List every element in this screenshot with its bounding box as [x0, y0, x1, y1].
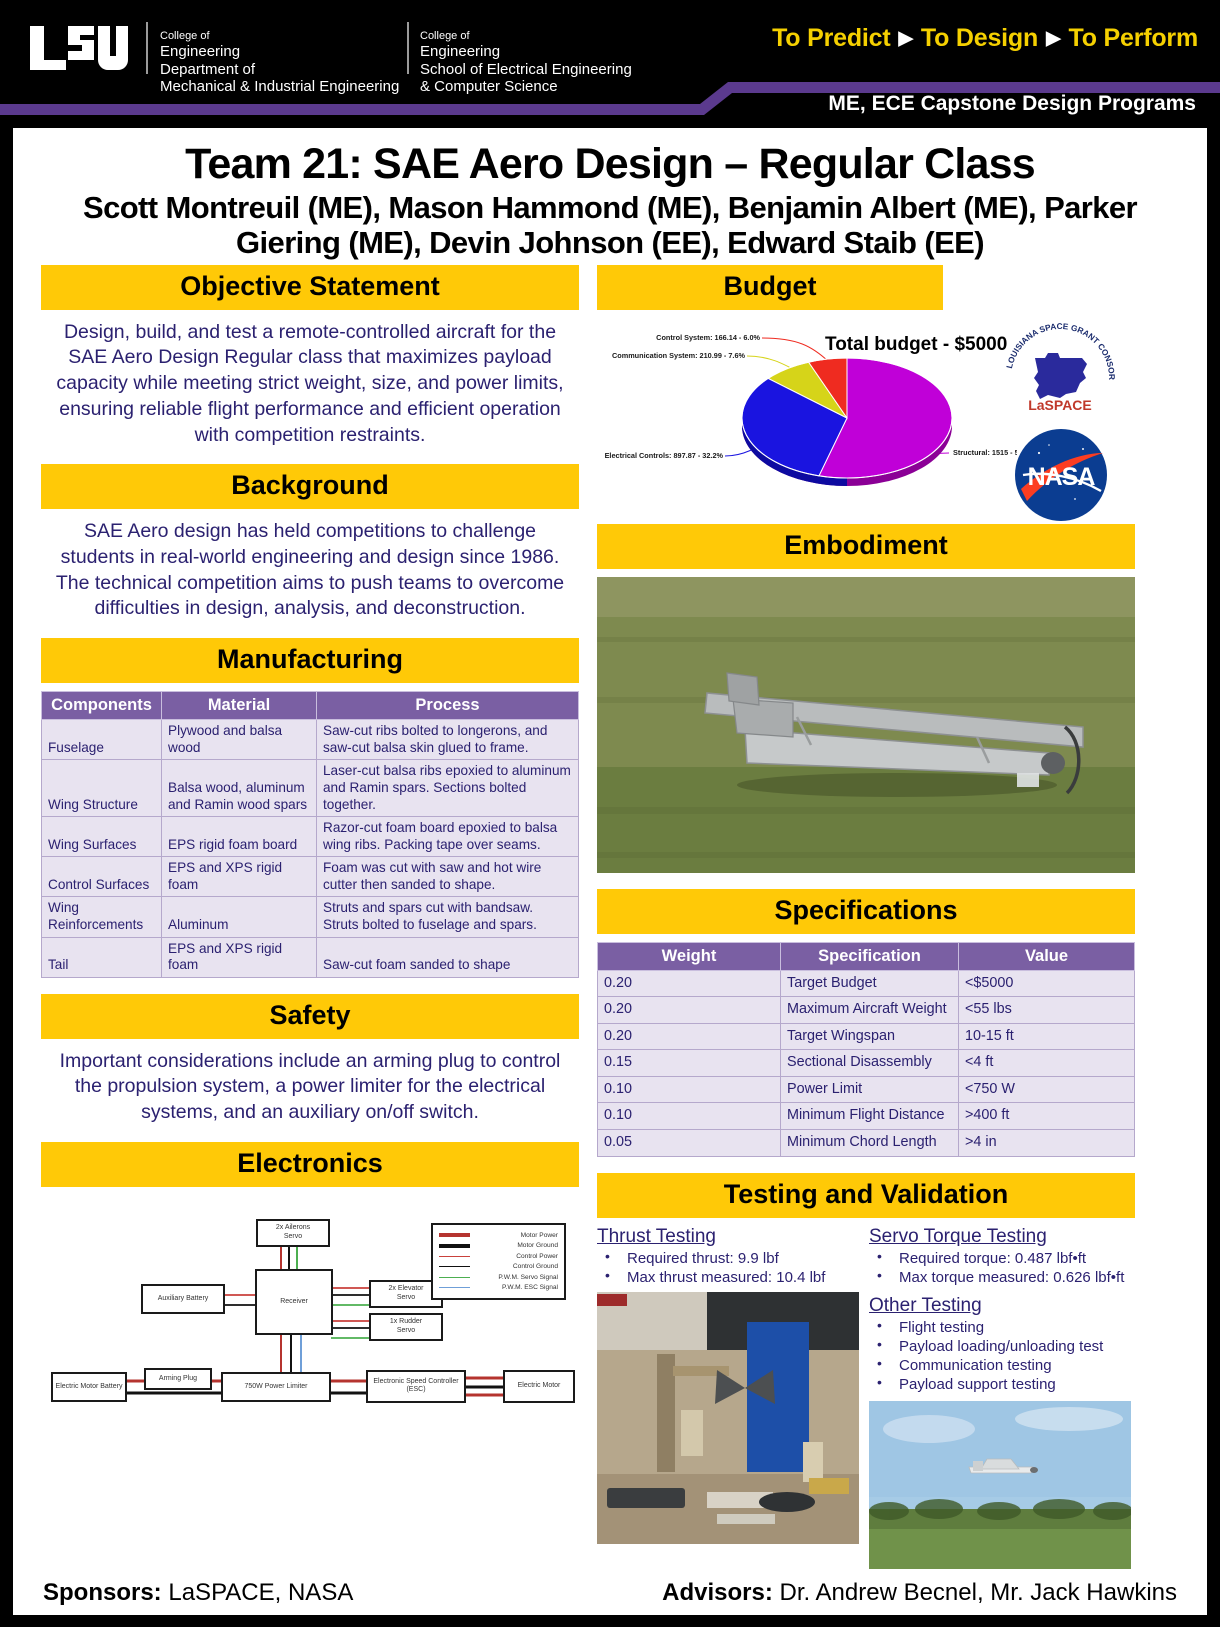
column-header: Value [959, 942, 1135, 970]
table-cell: 0.20 [598, 1023, 781, 1050]
legend-label: Motor Power [476, 1232, 558, 1239]
flight-test-photo [869, 1401, 1131, 1569]
table-cell: EPS and XPS rigid foam [162, 937, 317, 977]
thrust-test-photo [597, 1292, 859, 1544]
legend-label: Control Power [476, 1253, 558, 1260]
electronics-box-label: 1x Rudder Servo [390, 1318, 422, 1336]
safety-text: Important considerations include an armi… [41, 1047, 579, 1126]
table-row: 0.20Target Wingspan10-15 ft [598, 1023, 1135, 1050]
table-cell: Saw-cut foam sanded to shape [317, 937, 579, 977]
legend-color-swatch [439, 1244, 470, 1248]
servo-and-other-testing-block: Servo Torque Testing Required torque: 0.… [869, 1226, 1135, 1569]
nasa-logo-icon: NASA [1013, 427, 1109, 523]
table-cell: EPS rigid foam board [162, 817, 317, 857]
lsu-logo-icon [28, 22, 130, 74]
sponsors: Sponsors: LaSPACE, NASA [43, 1579, 353, 1607]
electronics-box-electric-motor-battery: Electric Motor Battery [51, 1372, 127, 1402]
table-cell: >400 ft [959, 1103, 1135, 1130]
legend-color-swatch [439, 1277, 470, 1278]
legend-row: Motor Power [439, 1230, 558, 1241]
legend-color-swatch [439, 1256, 470, 1257]
sponsors-label: Sponsors: [43, 1579, 162, 1606]
table-row: Wing StructureBalsa wood, aluminum and R… [42, 760, 579, 817]
table-cell: Power Limit [781, 1076, 959, 1103]
table-cell: Foam was cut with saw and hot wire cutte… [317, 857, 579, 897]
table-cell: Balsa wood, aluminum and Ramin wood spar… [162, 760, 317, 817]
testing-heading: Testing and Validation [597, 1173, 1135, 1218]
me-college-line1: College of [160, 30, 399, 43]
poster-canvas: Team 21: SAE Aero Design – Regular Class… [13, 128, 1207, 1615]
manufacturing-table: ComponentsMaterialProcess FuselagePlywoo… [41, 691, 579, 978]
table-header-row: ComponentsMaterialProcess [42, 692, 579, 720]
table-cell: Fuselage [42, 720, 162, 760]
ece-college-line2: Engineering [420, 43, 632, 61]
safety-section: Safety Important considerations include … [41, 994, 579, 1126]
embodiment-photo-content [597, 577, 1135, 873]
list-item: Payload support testing [869, 1375, 1135, 1394]
table-cell: Struts and spars cut with bandsaw. Strut… [317, 897, 579, 937]
list-item: Communication testing [869, 1356, 1135, 1375]
servo-testing-title: Servo Torque Testing [869, 1226, 1135, 1248]
budget-heading: Budget [597, 265, 943, 310]
embodiment-heading: Embodiment [597, 524, 1135, 569]
manufacturing-heading: Manufacturing [41, 638, 579, 683]
electronics-box-ailerons-servo: 2x Ailerons Servo [256, 1219, 330, 1247]
table-row: Wing ReinforcementsAluminumStruts and sp… [42, 897, 579, 937]
table-cell: 0.20 [598, 997, 781, 1024]
budget-pie-chart [597, 318, 1017, 508]
legend-row: Control Ground [439, 1261, 558, 1272]
column-header: Specification [781, 942, 959, 970]
specifications-table: WeightSpecificationValue 0.20Target Budg… [597, 942, 1135, 1157]
objective-heading: Objective Statement [41, 265, 579, 310]
table-cell: <55 lbs [959, 997, 1135, 1024]
list-item: Max thrust measured: 10.4 lbf [597, 1268, 861, 1287]
embodiment-section: Embodiment [597, 524, 1135, 873]
tagline-predict: To Predict [772, 24, 890, 53]
legend-label: Control Ground [476, 1263, 558, 1270]
table-cell: 10-15 ft [959, 1023, 1135, 1050]
background-section: Background SAE Aero design has held comp… [41, 464, 579, 622]
laspace-logo-icon: LOUISIANA SPACE GRANT CONSORTIUM LaSPACE [999, 322, 1121, 420]
table-cell: Tail [42, 937, 162, 977]
column-header: Process [317, 692, 579, 720]
legend-color-swatch [439, 1233, 470, 1237]
electronics-diagram: 2x Ailerons Servo 2x Elevator Servo 1x R… [41, 1195, 579, 1407]
legend-row: Motor Ground [439, 1240, 558, 1251]
tagline-design: To Design [921, 24, 1038, 53]
table-cell: <750 W [959, 1076, 1135, 1103]
table-cell: Minimum Chord Length [781, 1129, 959, 1156]
thrust-testing-title: Thrust Testing [597, 1226, 861, 1248]
me-dept-line2: Mechanical & Industrial Engineering [160, 78, 399, 96]
table-row: TailEPS and XPS rigid foamSaw-cut foam s… [42, 937, 579, 977]
ece-school-line2: & Computer Science [420, 78, 632, 96]
table-cell: Maximum Aircraft Weight [781, 997, 959, 1024]
table-cell: Laser-cut balsa ribs epoxied to aluminum… [317, 760, 579, 817]
sponsors-value: LaSPACE, NASA [168, 1579, 353, 1606]
electronics-box-label: Electronic Speed Controller (ESC) [373, 1378, 458, 1396]
background-heading: Background [41, 464, 579, 509]
svg-text:NASA: NASA [1028, 463, 1096, 491]
tagline-perform: To Perform [1069, 24, 1199, 53]
table-cell: 0.05 [598, 1129, 781, 1156]
table-cell: 0.10 [598, 1103, 781, 1130]
table-cell: Aluminum [162, 897, 317, 937]
legend-color-swatch [439, 1266, 470, 1267]
budget-chart-area: Total budget - $5000 [597, 318, 1135, 508]
table-row: 0.05Minimum Chord Length>4 in [598, 1129, 1135, 1156]
electronics-box-rudder-servo: 1x Rudder Servo [369, 1313, 443, 1341]
electronics-box-esc: Electronic Speed Controller (ESC) [366, 1370, 466, 1403]
thrust-test-photo-content [597, 1292, 859, 1544]
table-cell: Target Budget [781, 970, 959, 997]
table-cell: <$5000 [959, 970, 1135, 997]
list-item: Required thrust: 9.9 lbf [597, 1249, 861, 1268]
servo-testing-list: Required torque: 0.487 lbf•ftMax torque … [869, 1249, 1135, 1287]
other-testing-title: Other Testing [869, 1295, 1135, 1317]
svg-text:LaSPACE: LaSPACE [1028, 397, 1092, 413]
table-cell: >4 in [959, 1129, 1135, 1156]
budget-section: Budget Total budget - $5000 [597, 265, 1135, 508]
table-row: 0.15Sectional Disassembly<4 ft [598, 1050, 1135, 1077]
table-cell: EPS and XPS rigid foam [162, 857, 317, 897]
testing-section: Testing and Validation Thrust Testing Re… [597, 1173, 1135, 1569]
advisors: Advisors: Dr. Andrew Becnel, Mr. Jack Ha… [662, 1579, 1177, 1607]
table-cell: Target Wingspan [781, 1023, 959, 1050]
table-row: Control SurfacesEPS and XPS rigid foamFo… [42, 857, 579, 897]
table-row: 0.20Maximum Aircraft Weight<55 lbs [598, 997, 1135, 1024]
objective-section: Objective Statement Design, build, and t… [41, 265, 579, 449]
legend-color-swatch [439, 1287, 470, 1288]
poster-columns: Objective Statement Design, build, and t… [13, 265, 1207, 1585]
list-item: Payload loading/unloading test [869, 1337, 1135, 1356]
table-cell: Wing Reinforcements [42, 897, 162, 937]
table-cell: Saw-cut ribs bolted to longerons, and sa… [317, 720, 579, 760]
electronics-legend: Motor PowerMotor GroundControl PowerCont… [431, 1223, 566, 1300]
legend-label: P.W.M. ESC Signal [476, 1284, 558, 1291]
electronics-heading: Electronics [41, 1142, 579, 1187]
legend-row: Control Power [439, 1251, 558, 1262]
electronics-box-receiver: Receiver [255, 1269, 333, 1335]
table-cell: <4 ft [959, 1050, 1135, 1077]
ece-dept-block: College of Engineering School of Electri… [420, 30, 632, 96]
table-cell: Wing Surfaces [42, 817, 162, 857]
header-divider-1 [146, 22, 148, 74]
electronics-box-label: 2x Ailerons Servo [276, 1224, 310, 1242]
chevron-right-icon-1: ▶ [898, 27, 912, 50]
electronics-box-power-limiter: 750W Power Limiter [221, 1372, 331, 1402]
electronics-box-label: Receiver [280, 1298, 308, 1307]
list-item: Flight testing [869, 1318, 1135, 1337]
objective-text: Design, build, and test a remote-control… [41, 318, 579, 449]
electronics-box-label: Electric Motor [518, 1382, 561, 1391]
table-row: FuselagePlywood and balsa woodSaw-cut ri… [42, 720, 579, 760]
column-header: Components [42, 692, 162, 720]
electronics-box-label: Electric Motor Battery [56, 1383, 123, 1392]
capstone-program-label: ME, ECE Capstone Design Programs [828, 92, 1196, 116]
table-row: 0.10Minimum Flight Distance>400 ft [598, 1103, 1135, 1130]
testing-columns: Thrust Testing Required thrust: 9.9 lbfM… [597, 1226, 1135, 1569]
list-item: Max torque measured: 0.626 lbf•ft [869, 1268, 1135, 1287]
chevron-right-icon-2: ▶ [1046, 27, 1060, 50]
specifications-heading: Specifications [597, 889, 1135, 934]
table-header-row: WeightSpecificationValue [598, 942, 1135, 970]
tagline: To Predict ▶ To Design ▶ To Perform [772, 24, 1198, 53]
me-dept-line1: Department of [160, 61, 399, 79]
thrust-testing-block: Thrust Testing Required thrust: 9.9 lbfM… [597, 1226, 861, 1569]
poster-title-block: Team 21: SAE Aero Design – Regular Class… [13, 128, 1207, 265]
advisors-value: Dr. Andrew Becnel, Mr. Jack Hawkins [780, 1579, 1177, 1606]
legend-label: P.W.M. Servo Signal [476, 1274, 558, 1281]
electronics-box-label: 750W Power Limiter [244, 1383, 307, 1392]
legend-label: Motor Ground [476, 1242, 558, 1249]
table-cell: Wing Structure [42, 760, 162, 817]
list-item: Required torque: 0.487 lbf•ft [869, 1249, 1135, 1268]
table-cell: 0.15 [598, 1050, 781, 1077]
table-cell: Control Surfaces [42, 857, 162, 897]
thrust-testing-list: Required thrust: 9.9 lbfMax thrust measu… [597, 1249, 861, 1287]
electronics-box-label: 2x Elevator Servo [388, 1285, 423, 1303]
table-cell: 0.10 [598, 1076, 781, 1103]
right-column: Budget Total budget - $5000 [597, 265, 1135, 1585]
author-list: Scott Montreuil (ME), Mason Hammond (ME)… [29, 191, 1191, 260]
table-cell: Plywood and balsa wood [162, 720, 317, 760]
electronics-box-label: Arming Plug [159, 1375, 197, 1384]
electronics-section: Electronics [41, 1142, 579, 1407]
me-college-line2: Engineering [160, 43, 399, 61]
legend-row: P.W.M. ESC Signal [439, 1282, 558, 1293]
table-row: Wing SurfacesEPS rigid foam boardRazor-c… [42, 817, 579, 857]
electronics-box-auxiliary-battery: Auxiliary Battery [141, 1284, 225, 1314]
column-header: Weight [598, 942, 781, 970]
page-header: College of Engineering Department of Mec… [0, 0, 1220, 128]
other-testing-list: Flight testingPayload loading/unloading … [869, 1318, 1135, 1395]
page-title: Team 21: SAE Aero Design – Regular Class [29, 142, 1191, 187]
legend-row: P.W.M. Servo Signal [439, 1272, 558, 1283]
sponsor-logos: LOUISIANA SPACE GRANT CONSORTIUM LaSPACE [999, 322, 1131, 528]
electronics-box-label: Auxiliary Battery [158, 1295, 209, 1304]
safety-heading: Safety [41, 994, 579, 1039]
left-column: Objective Statement Design, build, and t… [41, 265, 579, 1585]
me-dept-block: College of Engineering Department of Mec… [160, 30, 399, 96]
electronics-box-electric-motor: Electric Motor [503, 1370, 575, 1403]
specifications-section: Specifications WeightSpecificationValue … [597, 889, 1135, 1157]
table-row: 0.20Target Budget<$5000 [598, 970, 1135, 997]
table-row: 0.10Power Limit<750 W [598, 1076, 1135, 1103]
embodiment-photo [597, 577, 1135, 873]
table-cell: Razor-cut foam board epoxied to balsa wi… [317, 817, 579, 857]
flight-test-photo-content [869, 1401, 1131, 1569]
header-divider-2 [407, 22, 409, 74]
background-text: SAE Aero design has held competitions to… [41, 517, 579, 622]
ece-school-line1: School of Electrical Engineering [420, 61, 632, 79]
ece-college-line1: College of [420, 30, 632, 43]
column-header: Material [162, 692, 317, 720]
table-cell: Minimum Flight Distance [781, 1103, 959, 1130]
manufacturing-section: Manufacturing ComponentsMaterialProcess … [41, 638, 579, 978]
table-cell: 0.20 [598, 970, 781, 997]
table-cell: Sectional Disassembly [781, 1050, 959, 1077]
poster-footer: Sponsors: LaSPACE, NASA Advisors: Dr. An… [13, 1579, 1207, 1615]
electronics-box-arming-plug: Arming Plug [144, 1368, 212, 1390]
advisors-label: Advisors: [662, 1579, 773, 1606]
